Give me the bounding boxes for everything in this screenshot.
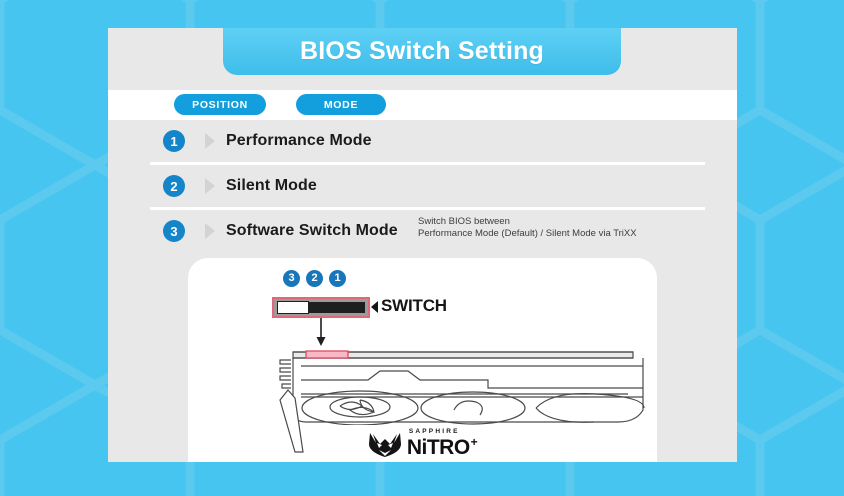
column-header-mode: MODE [296, 94, 386, 115]
chevron-right-icon [205, 133, 215, 149]
bios-switch-infographic: BIOS Switch Setting POSITION MODE 1 Perf… [0, 0, 844, 496]
chevron-right-icon [205, 223, 215, 239]
column-header-position: POSITION [174, 94, 266, 115]
position-badge: 2 [163, 175, 185, 197]
switch-position-markers: 3 2 1 [283, 270, 346, 287]
switch-position-marker-2: 2 [306, 270, 323, 287]
title-banner: BIOS Switch Setting [223, 28, 621, 75]
mode-description: Switch BIOS between Performance Mode (De… [418, 216, 637, 240]
brand-tab: SAPPHIRE NiTRO+ [297, 425, 548, 462]
sapphire-nitro-fox-icon [368, 432, 402, 457]
list-item: 3 Software Switch Mode Switch BIOS betwe… [108, 210, 737, 252]
brand-plus-text: + [471, 436, 478, 448]
column-header-band: POSITION MODE [108, 90, 737, 120]
bios-switch-graphic [272, 297, 370, 318]
mode-list: 1 Performance Mode 2 Silent Mode 3 Softw… [108, 120, 737, 252]
brand-nitro-text: NiTRO+ [407, 437, 477, 458]
chevron-right-icon [205, 178, 215, 194]
mode-label: Performance Mode [226, 132, 372, 150]
switch-position-marker-3: 3 [283, 270, 300, 287]
list-item: 2 Silent Mode [108, 165, 737, 207]
mode-label: Silent Mode [226, 177, 317, 195]
list-item: 1 Performance Mode [108, 120, 737, 162]
brand-sapphire-text: SAPPHIRE [409, 429, 460, 436]
position-badge: 3 [163, 220, 185, 242]
mode-description-line1: Switch BIOS between [418, 216, 510, 227]
switch-track [277, 302, 365, 313]
mode-description-line2: Performance Mode (Default) / Silent Mode… [418, 228, 637, 239]
position-badge: 1 [163, 130, 185, 152]
caret-left-icon [371, 301, 378, 313]
page-title: BIOS Switch Setting [300, 37, 544, 66]
switch-position-marker-1: 1 [329, 270, 346, 287]
mode-label: Software Switch Mode [226, 222, 398, 240]
switch-knob [277, 301, 309, 314]
switch-callout-label: SWITCH [381, 296, 447, 316]
